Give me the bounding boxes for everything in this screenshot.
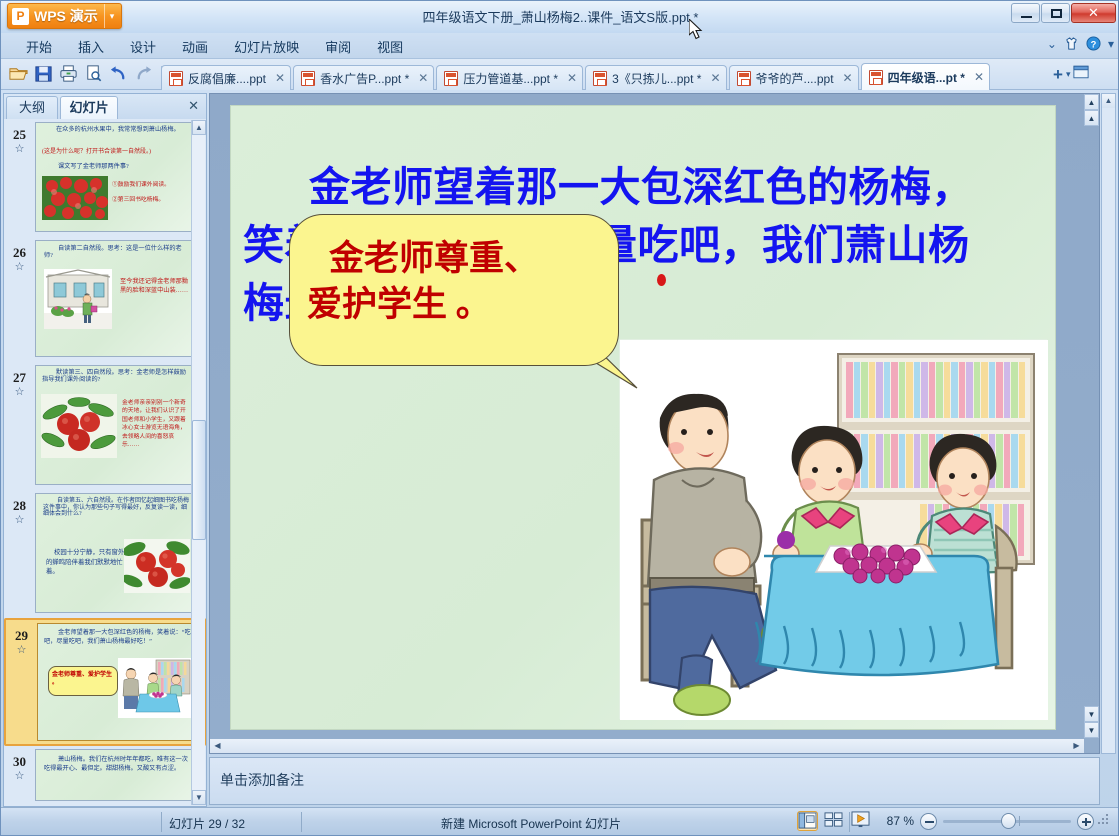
thumbnail-frame[interactable]: 自读第二自然段。思考：这是一位什么样的老师? 至今我还记得金老师那黝黑的脸和深蓝… <box>35 240 195 357</box>
tab-strip-tools: + ▾ <box>1053 65 1089 84</box>
slide-sorter-button[interactable] <box>824 811 845 831</box>
zoom-slider-tick <box>1019 816 1020 826</box>
scroll-down-icon[interactable]: ▼ <box>1084 722 1099 738</box>
thumbnail-frame[interactable]: 萧山杨梅。我们在杭州时年年都吃，唯有这一次吃得最开心、最但定。甜甜杨梅。又酸又有… <box>35 749 195 801</box>
close-icon[interactable]: ✕ <box>563 71 577 85</box>
ribbon-tab-design[interactable]: 设计 <box>117 34 169 59</box>
dropdown-caret-icon[interactable]: ▾ <box>1108 37 1114 51</box>
animation-star-icon: ☆ <box>4 261 35 273</box>
thumbnail-picture-bayberry <box>42 176 108 220</box>
close-button[interactable]: ✕ <box>1071 3 1116 23</box>
chevron-down-icon[interactable]: ⌄ <box>1047 37 1057 51</box>
thumb-line: 自读第二自然段。思考：这是一位什么样的老师? <box>44 246 188 260</box>
new-document-button[interactable]: + <box>1053 68 1063 82</box>
scroll-up-icon[interactable]: ▲ <box>1084 94 1099 110</box>
slide-navigator-panel: 大纲 幻灯片 ✕ 25 ☆ 在众多的杭州水果中，我常常想到萧山杨梅。 (这是为什… <box>3 93 207 807</box>
scroll-down-icon[interactable]: ▼ <box>192 790 206 805</box>
notes-pane[interactable]: 单击添加备注 <box>209 757 1100 805</box>
quick-access-and-tabs-bar: ▾ 反腐倡廉....ppt ✕ 香水广告P...ppt * ✕ 压力管道基...… <box>1 59 1119 90</box>
presentation-file-icon <box>869 70 883 85</box>
slide-editing-area: 金老师望着那一大包深红色的杨梅， 笑着说：“吃吧，尽量吃吧，我们萧山杨 梅最好吃… <box>209 93 1100 754</box>
close-icon[interactable]: ✕ <box>970 70 984 84</box>
window-layout-icon[interactable] <box>1073 65 1089 84</box>
thumbnail-number: 29 <box>6 628 37 644</box>
thumbnail-number: 27 <box>4 370 35 386</box>
zoom-out-button[interactable] <box>920 813 937 830</box>
title-bar: P WPS 演示 ▾ 四年级语文下册_萧山杨梅2..课件_语文S版.ppt * … <box>1 1 1119 33</box>
status-divider <box>301 812 302 832</box>
doc-tab-label: 香水广告P...ppt * <box>320 70 409 87</box>
document-title: 四年级语文下册_萧山杨梅2..课件_语文S版.ppt * <box>1 7 1119 26</box>
doc-tab-1[interactable]: 香水广告P...ppt * ✕ <box>293 65 434 90</box>
classroom-illustration-svg <box>620 340 1048 720</box>
thumb-line: 萧山杨梅。我们在杭州时年年都吃，唯有这一次吃得最开心、最但定。甜甜杨梅。又酸又有… <box>44 755 190 774</box>
slideshow-button[interactable] <box>851 811 872 831</box>
close-icon[interactable]: ✕ <box>706 71 720 85</box>
thumbnail-meta: 27 ☆ <box>4 365 35 398</box>
normal-view-button[interactable] <box>797 811 818 831</box>
thumbnail-item-28[interactable]: 28 ☆ 自读第五、六自然段。在作者回忆起细图书吃杨梅这件事中，你认为那些句子写… <box>4 490 206 618</box>
shirt-theme-icon[interactable] <box>1064 36 1079 51</box>
thumbnail-meta: 30 ☆ <box>4 749 35 782</box>
thumbnail-meta: 29 ☆ <box>6 623 37 656</box>
thumbnail-picture-bayberry-tree <box>124 539 190 593</box>
slide-canvas[interactable]: 金老师望着那一大包深红色的杨梅， 笑着说：“吃吧，尽量吃吧，我们萧山杨 梅最好吃… <box>230 105 1056 730</box>
thumbnail-frame[interactable]: 自读第五、六自然段。在作者回忆起细图书吃杨梅这件事中，你认为那些句子写得最好，反… <box>35 493 195 613</box>
thumbnail-number: 26 <box>4 245 35 261</box>
zoom-in-button[interactable] <box>1077 813 1094 830</box>
slide-vertical-nav-buttons: ▲ ▲ ▼ ▼ <box>1084 94 1099 753</box>
thumb-line: ②第三回书吃杨梅。 <box>112 197 192 203</box>
doc-tab-2[interactable]: 压力管道基...ppt * ✕ <box>436 65 583 90</box>
ribbon-menu-bar: 开始 插入 设计 动画 幻灯片放映 审阅 视图 ⌄ ? ▾ <box>1 33 1119 59</box>
emphasis-dot-icon <box>657 274 666 286</box>
ribbon-tab-insert[interactable]: 插入 <box>65 34 117 59</box>
tab-outline[interactable]: 大纲 <box>6 96 58 119</box>
close-icon[interactable]: ✕ <box>414 71 428 85</box>
thumbnail-item-25[interactable]: 25 ☆ 在众多的杭州水果中，我常常想到萧山杨梅。 (这是为什么呢？打开书合读第… <box>4 119 206 237</box>
view-and-zoom-controls: 87 % <box>797 811 1112 831</box>
doc-tab-3[interactable]: 3《只拣儿...ppt * ✕ <box>585 65 726 90</box>
panel-close-icon[interactable]: ✕ <box>188 98 199 114</box>
thumbnail-slide-preview: 自读第二自然段。思考：这是一位什么样的老师? 至今我还记得金老师那黝黑的脸和深蓝… <box>36 241 194 356</box>
presentation-file-icon <box>593 71 607 86</box>
ribbon-tab-list: 开始 插入 设计 动画 幻灯片放映 审阅 视图 <box>1 33 1119 59</box>
thumbnail-picture-classroom <box>118 658 192 718</box>
thumbnail-slide-preview: 自读第五、六自然段。在作者回忆起细图书吃杨梅这件事中，你认为那些句子写得最好，反… <box>36 494 194 612</box>
slide-line-1: 金老师望着那一大包深红色的杨梅， <box>243 158 1045 216</box>
thumbnail-meta: 28 ☆ <box>4 493 35 526</box>
redo-icon[interactable] <box>133 63 154 84</box>
zoom-slider-handle[interactable] <box>1001 813 1016 829</box>
thumbnail-frame[interactable]: 默读第三、四自然段。思考：金老师是怎样鼓励指导我们课外阅读的? 金老师亲亲别别一… <box>35 365 195 485</box>
mouse-cursor <box>689 19 704 46</box>
thumb-line: 至今我还记得金老师那黝黑的脸和深蓝中山装…… <box>120 277 190 296</box>
thumb-line: ①鼓励我们课外阅读。 <box>112 182 192 188</box>
doc-tab-label: 压力管道基...ppt * <box>463 70 558 87</box>
ribbon-right-tools: ⌄ ? ▾ <box>1047 36 1114 51</box>
zoom-slider-track[interactable] <box>943 820 1071 823</box>
print-icon[interactable] <box>58 63 79 84</box>
open-folder-icon[interactable] <box>8 63 29 84</box>
undo-icon[interactable] <box>108 63 129 84</box>
thumbnail-slide-preview: 金老师望着那一大包深红色的杨梅，笑着说：“吃吧，尽量吃吧，我们萧山杨梅最好吃！”… <box>38 624 196 740</box>
scroll-up-icon[interactable]: ▲ <box>1102 94 1115 108</box>
ribbon-tab-view[interactable]: 视图 <box>364 34 416 59</box>
window-vertical-scrollbar[interactable]: ▲ <box>1101 93 1116 754</box>
slide-layout-name: 新建 Microsoft PowerPoint 幻灯片 <box>441 815 621 832</box>
callout-shape[interactable]: 金老师尊重、 爱护学生 。 <box>289 214 619 386</box>
thumbnail-meta: 25 ☆ <box>4 122 35 155</box>
status-divider <box>161 812 162 832</box>
doc-tab-0[interactable]: 反腐倡廉....ppt ✕ <box>161 65 291 90</box>
thumb-line: 默读第三、四自然段。思考：金老师是怎样鼓励指导我们课外阅读的? <box>42 370 190 384</box>
doc-tab-4[interactable]: 爷爷的芦....ppt ✕ <box>729 65 859 90</box>
thumbnail-item-26[interactable]: 26 ☆ 自读第二自然段。思考：这是一位什么样的老师? 至今我还记得金老师那黝黑… <box>4 237 206 362</box>
thumbnail-slide-preview: 在众多的杭州水果中，我常常想到萧山杨梅。 (这是为什么呢？打开书合读第一自然段。… <box>36 123 194 231</box>
scroll-right-icon[interactable]: ▶ <box>1069 739 1084 753</box>
thumbnail-slide-preview: 萧山杨梅。我们在杭州时年年都吃，唯有这一次吃得最开心、最但定。甜甜杨梅。又酸又有… <box>36 750 194 800</box>
slide-illustration[interactable] <box>619 339 1047 719</box>
scroll-up-icon[interactable]: ▲ <box>192 120 206 135</box>
next-slide-icon[interactable]: ▼ <box>1084 706 1099 722</box>
thumbnail-meta: 26 ☆ <box>4 240 35 273</box>
thumbnail-frame[interactable]: 在众多的杭州水果中，我常常想到萧山杨梅。 (这是为什么呢？打开书合读第一自然段。… <box>35 122 195 232</box>
slide-horizontal-scrollbar[interactable]: ◀ ▶ <box>210 738 1084 753</box>
presentation-file-icon <box>444 71 458 86</box>
thumb-line: 自读第五、六自然段。在作者回忆起细图书吃杨梅这件事中，你认为那些句子写得最好，反… <box>43 498 189 518</box>
tab-slides[interactable]: 幻灯片 <box>60 96 118 119</box>
close-icon[interactable]: ✕ <box>839 71 853 85</box>
ribbon-tab-home[interactable]: 开始 <box>13 34 65 59</box>
help-icon[interactable]: ? <box>1086 36 1101 51</box>
slide-counter: 幻灯片 29 / 32 <box>169 815 245 832</box>
window-controls: ✕ <box>1011 3 1116 23</box>
ribbon-tab-review[interactable]: 审阅 <box>312 34 364 59</box>
doc-tab-label: 反腐倡廉....ppt <box>188 70 266 87</box>
scroll-left-icon[interactable]: ◀ <box>210 739 225 753</box>
presentation-file-icon <box>169 71 183 86</box>
thumbnail-number: 30 <box>4 754 35 770</box>
minimize-button[interactable] <box>1011 3 1040 23</box>
scrollbar-thumb[interactable] <box>192 420 206 540</box>
thumb-line: 课文写了金老师那两件事? <box>58 164 190 171</box>
thumb-line: 在众多的杭州水果中，我常常想到萧山杨梅。 <box>44 127 186 134</box>
close-icon[interactable]: ✕ <box>271 71 285 85</box>
thumb-line: 金老师亲亲别别一个新奇的天地，让我们认识了开国老师和小学生，又跟着冰心女士游览无… <box>122 399 190 449</box>
thumbnail-picture-bayberry-leaves <box>41 394 117 458</box>
thumbnail-slide-preview: 默读第三、四自然段。思考：金老师是怎样鼓励指导我们课外阅读的? 金老师亲亲别别一… <box>36 366 194 484</box>
thumbnail-number: 28 <box>4 498 35 514</box>
previous-slide-icon[interactable]: ▲ <box>1084 110 1099 126</box>
doc-tab-5-active[interactable]: 四年级语...pt * ✕ <box>861 63 990 90</box>
animation-star-icon: ☆ <box>6 644 37 656</box>
presentation-file-icon <box>737 71 751 86</box>
thumb-line: (这是为什么呢？打开书合读第一自然段。) <box>42 149 192 156</box>
new-document-caret-icon[interactable]: ▾ <box>1066 69 1071 80</box>
doc-tab-label: 3《只拣儿...ppt * <box>612 70 701 87</box>
resize-grip-icon[interactable] <box>1098 813 1110 825</box>
thumbnail-item-27[interactable]: 27 ☆ 默读第三、四自然段。思考：金老师是怎样鼓励指导我们课外阅读的? 金老师… <box>4 362 206 490</box>
svg-text:?: ? <box>1091 39 1097 49</box>
thumb-line: 校园十分宁静，只有窗外的蝉鸣陪伴着我们默默地忙着。 <box>46 548 126 577</box>
quick-access-toolbar: ▾ <box>8 63 182 84</box>
print-preview-icon[interactable] <box>83 63 104 84</box>
thumbnail-frame[interactable]: 金老师望着那一大包深红色的杨梅，笑着说：“吃吧，尽量吃吧，我们萧山杨梅最好吃！”… <box>37 623 197 741</box>
maximize-button[interactable] <box>1041 3 1070 23</box>
animation-star-icon: ☆ <box>4 386 35 398</box>
presentation-file-icon <box>301 71 315 86</box>
document-tab-strip: 反腐倡廉....ppt ✕ 香水广告P...ppt * ✕ 压力管道基...pp… <box>161 62 992 90</box>
thumbnail-item-30[interactable]: 30 ☆ 萧山杨梅。我们在杭州时年年都吃，唯有这一次吃得最开心、最但定。甜甜杨梅… <box>4 746 206 806</box>
thumb-callout-text: 金老师尊重、爱护学生 。 <box>49 667 117 691</box>
ribbon-tab-animation[interactable]: 动画 <box>169 34 221 59</box>
animation-star-icon: ☆ <box>4 770 35 782</box>
animation-star-icon: ☆ <box>4 514 35 526</box>
doc-tab-label: 四年级语...pt * <box>888 69 965 86</box>
ribbon-tab-slideshow[interactable]: 幻灯片放映 <box>221 34 312 59</box>
animation-star-icon: ☆ <box>4 143 35 155</box>
thumbnail-item-29-selected[interactable]: 29 ☆ 金老师望着那一大包深红色的杨梅，笑着说：“吃吧，尽量吃吧，我们萧山杨梅… <box>4 618 206 746</box>
panel-tab-strip: 大纲 幻灯片 ✕ <box>4 94 206 119</box>
status-bar: 幻灯片 29 / 32 新建 Microsoft PowerPoint 幻灯片 <box>1 807 1119 835</box>
wps-presentation-window: P WPS 演示 ▾ 四年级语文下册_萧山杨梅2..课件_语文S版.ppt * … <box>0 0 1119 836</box>
thumb-line: 金老师望着那一大包深红色的杨梅，笑着说：“吃吧，尽量吃吧，我们萧山杨梅最好吃！” <box>44 628 192 647</box>
slide-thumbnail-list[interactable]: 25 ☆ 在众多的杭州水果中，我常常想到萧山杨梅。 (这是为什么呢？打开书合读第… <box>4 119 206 806</box>
doc-tab-label: 爷爷的芦....ppt <box>756 70 834 87</box>
save-icon[interactable] <box>33 63 54 84</box>
notes-placeholder[interactable]: 单击添加备注 <box>220 770 304 790</box>
callout-text: 金老师尊重、 爱护学生 。 <box>307 236 603 327</box>
thumbnail-number: 25 <box>4 127 35 143</box>
zoom-level-label: 87 % <box>878 814 914 828</box>
thumbnail-callout: 金老师尊重、爱护学生 。 <box>48 666 118 696</box>
thumbnail-scrollbar[interactable]: ▲ ▼ <box>191 120 205 805</box>
thumbnail-picture-school <box>44 269 112 329</box>
